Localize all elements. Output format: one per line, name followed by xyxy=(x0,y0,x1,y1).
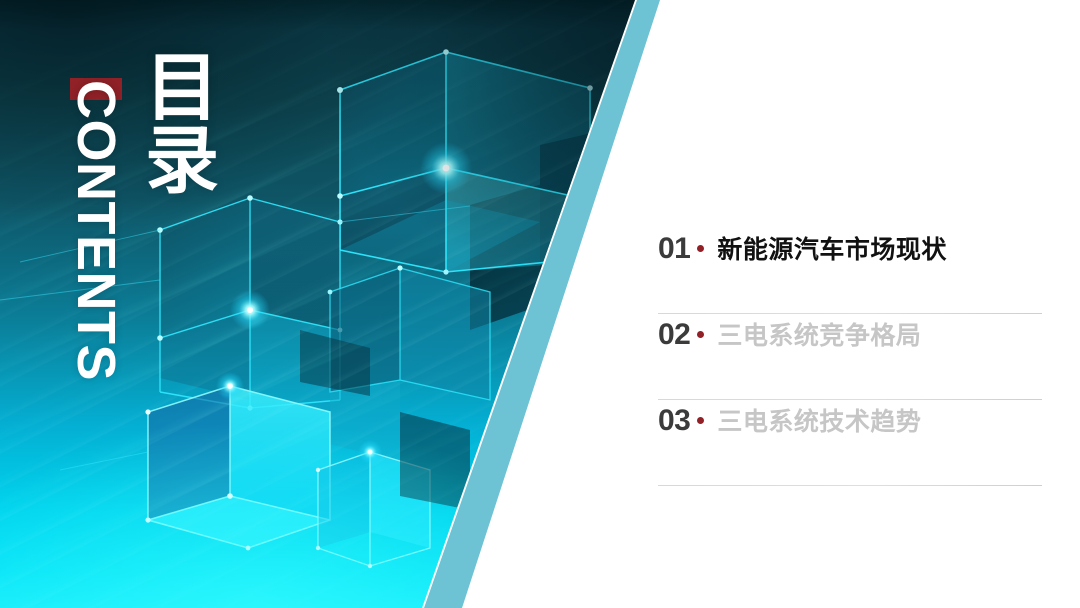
toc-item-01[interactable]: 01 新能源汽车市场现状 xyxy=(658,228,1044,314)
toc-item-02[interactable]: 02 三电系统竞争格局 xyxy=(658,314,1044,400)
bullet-dot-icon xyxy=(697,331,704,338)
slide-canvas: 目 录 CONTENTS 01 新能源汽车市场现状 02 三电系统竞争格局 03 xyxy=(0,0,1080,608)
toc-row-03: 03 三电系统技术趋势 xyxy=(658,400,1044,452)
panel-vignette xyxy=(0,0,680,608)
toc-divider-03 xyxy=(658,485,1042,486)
toc-number-01: 01 xyxy=(658,232,690,266)
toc-row-01: 01 新能源汽车市场现状 xyxy=(658,228,1044,280)
toc-row-02: 02 三电系统竞争格局 xyxy=(658,314,1044,366)
toc-item-03[interactable]: 03 三电系统技术趋势 xyxy=(658,400,1044,486)
toc-number-03: 03 xyxy=(658,404,690,438)
toc-label-03: 三电系统技术趋势 xyxy=(717,402,921,438)
bullet-dot-icon xyxy=(697,245,704,252)
bullet-dot-icon xyxy=(697,417,704,424)
toc-label-01: 新能源汽车市场现状 xyxy=(717,230,947,266)
toc-label-02: 三电系统竞争格局 xyxy=(717,316,921,352)
toc-number-02: 02 xyxy=(658,318,690,352)
table-of-contents: 01 新能源汽车市场现状 02 三电系统竞争格局 03 三电系统技术趋势 xyxy=(658,228,1044,486)
decorative-visual-panel xyxy=(0,0,680,608)
